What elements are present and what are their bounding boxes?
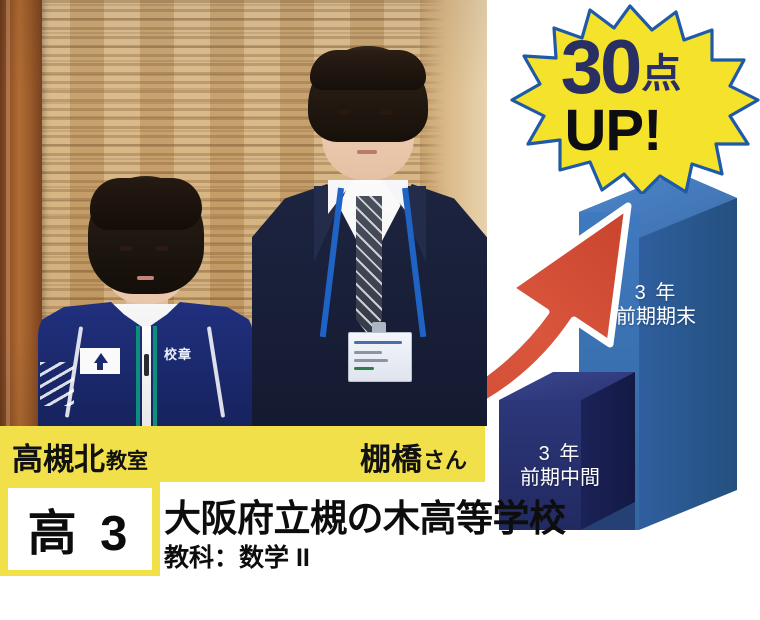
classroom-name-suffix: 教室 xyxy=(106,450,148,473)
jacket-chest-emblem xyxy=(80,348,120,374)
door-frame xyxy=(0,0,42,426)
results-promo-card: 校章 xyxy=(0,0,760,620)
instructor-bangs xyxy=(310,50,426,90)
score-increase-starburst-badge: 30点 UP! xyxy=(506,4,760,194)
instructor-in-navy-suit-with-lanyard xyxy=(252,46,487,426)
school-name: 大阪府立槻の木高等学校 xyxy=(164,488,566,542)
student-name-main: 棚橋 xyxy=(360,442,422,477)
student-mouth xyxy=(137,276,154,280)
student-name-honorific: さん xyxy=(423,448,467,473)
classroom-name-main: 高槻北 xyxy=(12,442,105,477)
student-and-instructor-photo: 校章 xyxy=(0,0,487,426)
jacket-teal-trim-right xyxy=(153,326,157,426)
instructor-eye-right xyxy=(380,110,393,115)
jacket-sleeve-stripes xyxy=(40,362,74,406)
starburst-shape xyxy=(512,6,758,194)
grade-badge-wrapper: 高 3 xyxy=(0,482,160,576)
jacket-zipper xyxy=(142,326,151,426)
student-bangs xyxy=(90,178,202,230)
jacket-chest-text: 校章 xyxy=(164,344,192,363)
student-eye-left xyxy=(120,246,132,251)
student-name: 棚橋さん xyxy=(360,434,467,479)
classroom-header-bar: 高槻北教室 棚橋さん xyxy=(0,426,485,482)
subject-label: 教科：数学 II xyxy=(164,538,310,574)
instructor-id-badge xyxy=(348,332,412,382)
grade-label: 高 3 xyxy=(28,494,133,565)
jacket-teal-trim-left xyxy=(136,326,140,426)
classroom-name: 高槻北教室 xyxy=(12,434,148,479)
student-info-panel: 高槻北教室 棚橋さん 高 3 大阪府立槻の木高等学校 教科：数学 II xyxy=(0,426,487,620)
instructor-necktie xyxy=(356,196,382,336)
grade-badge: 高 3 xyxy=(8,488,152,570)
student-eye-right xyxy=(156,246,168,251)
instructor-mouth xyxy=(357,150,377,154)
instructor-eye-left xyxy=(338,110,351,115)
student-in-navy-track-jacket: 校章 xyxy=(38,176,253,426)
